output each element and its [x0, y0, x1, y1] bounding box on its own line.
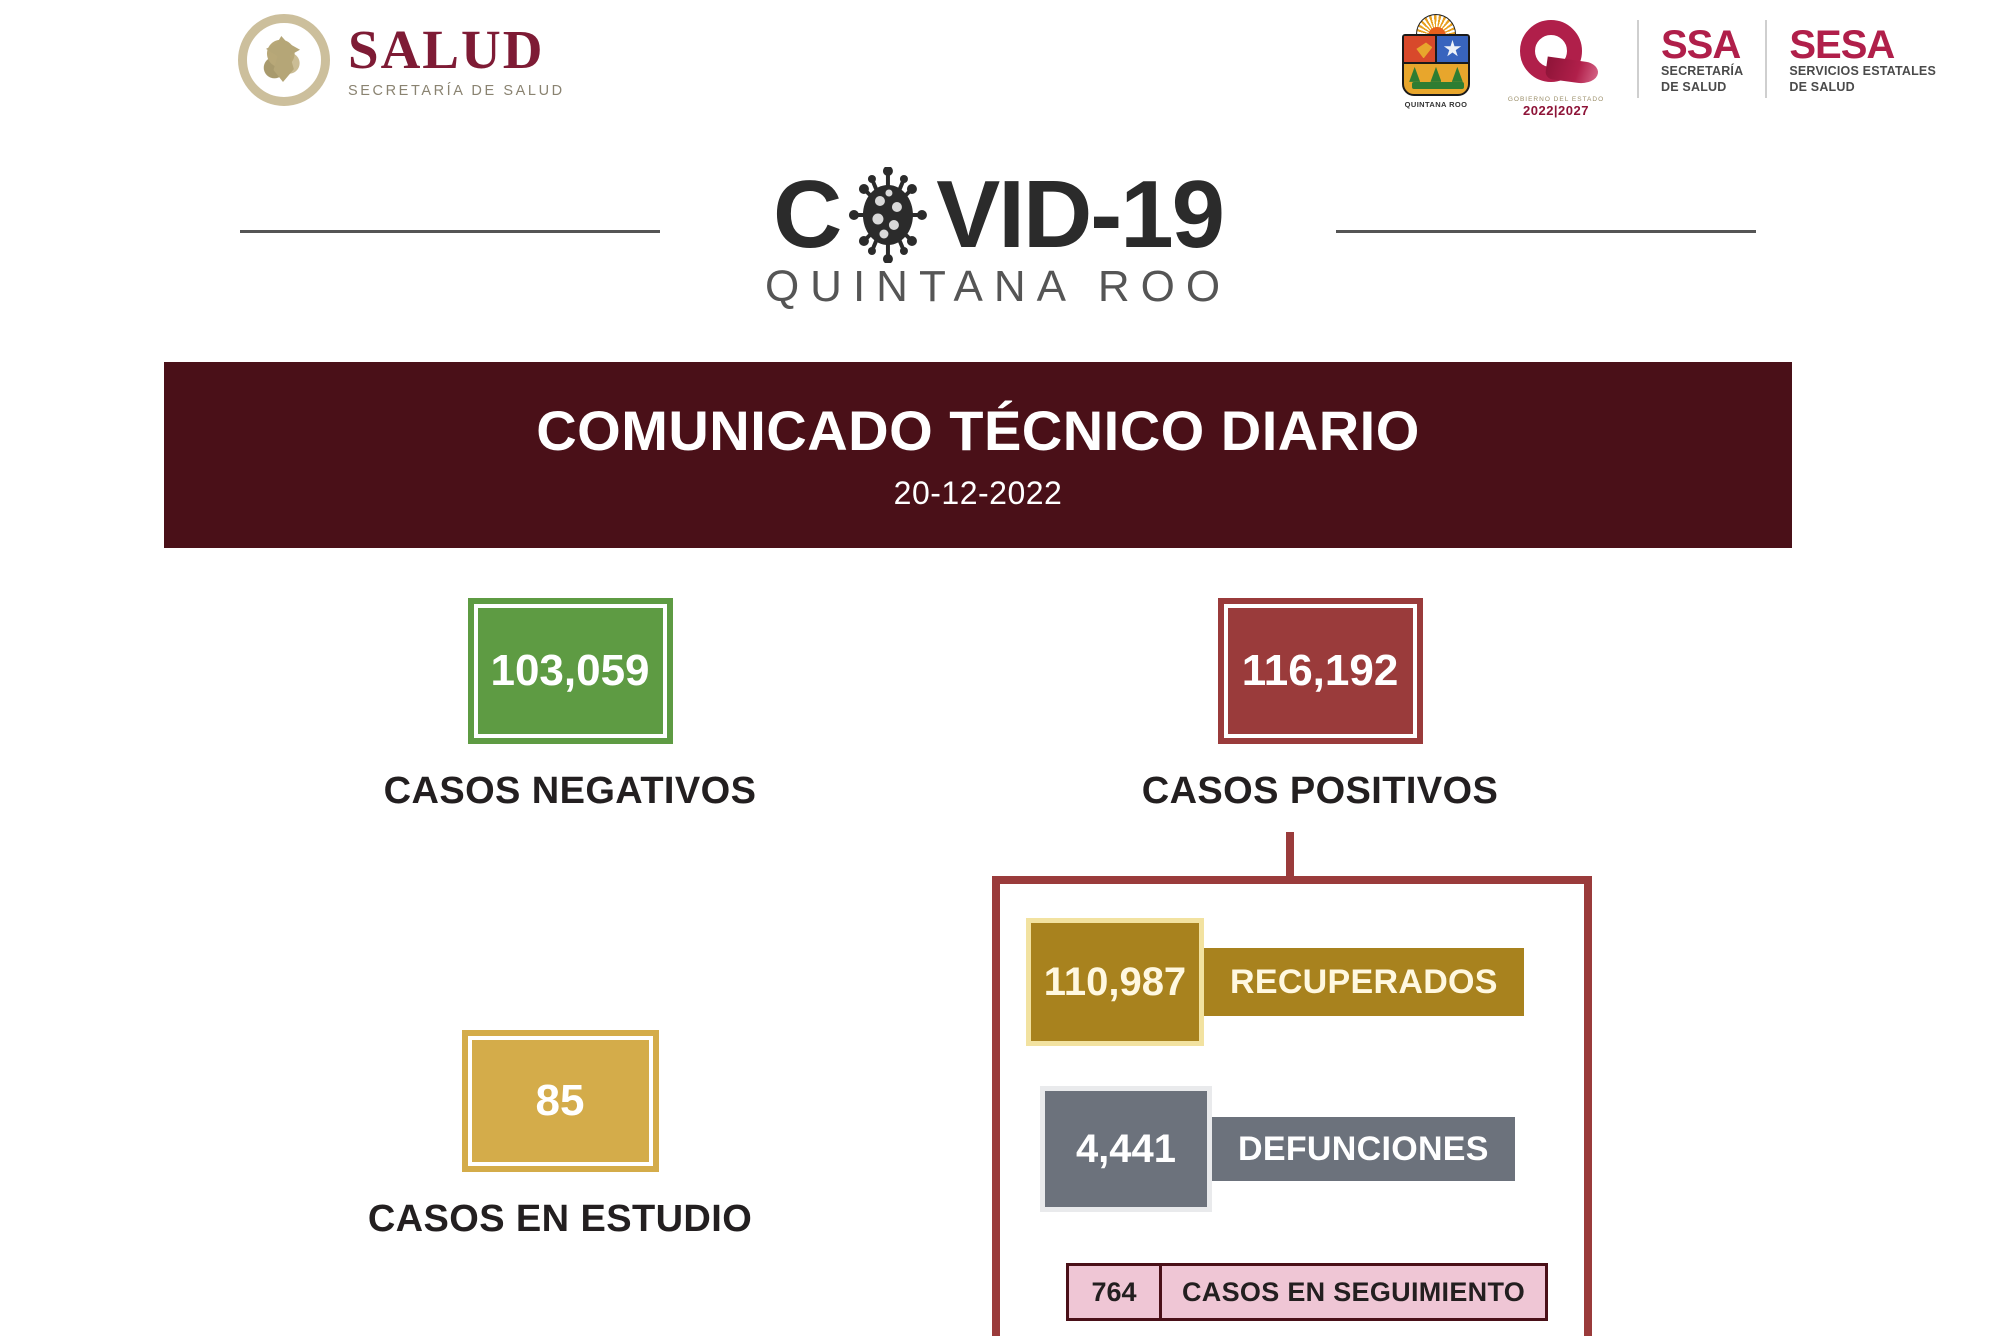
- coronavirus-icon: [842, 167, 934, 263]
- recuperados-value: 110,987: [1026, 918, 1204, 1046]
- seguimiento-label: CASOS EN SEGUIMIENTO: [1162, 1263, 1548, 1321]
- ssa-acronym: SSA: [1661, 26, 1743, 64]
- recuperados-label: RECUPERADOS: [1200, 948, 1524, 1016]
- seguimiento-value: 764: [1066, 1263, 1162, 1321]
- gobierno-years: 2022|2027: [1523, 103, 1589, 118]
- gobierno-small-text: GOBIERNO DEL ESTADO: [1508, 96, 1604, 103]
- ssa-logo: SSA SECRETARÍA DE SALUD: [1661, 14, 1743, 95]
- stat-casos-positivos: 116,192 CASOS POSITIVOS: [1110, 598, 1530, 813]
- logo-divider-1: [1637, 20, 1639, 98]
- defunciones-label: DEFUNCIONES: [1208, 1117, 1515, 1181]
- salud-wordmark: SALUD: [348, 22, 565, 77]
- quintana-roo-coat-of-arms-icon: QUINTANA ROO: [1397, 14, 1475, 109]
- breakdown-row-seguimiento: 764 CASOS EN SEGUIMIENTO: [1066, 1263, 1548, 1321]
- ssa-line1: SECRETARÍA: [1661, 64, 1743, 80]
- defunciones-value: 4,441: [1040, 1086, 1212, 1212]
- positivos-label: CASOS POSITIVOS: [1110, 770, 1530, 813]
- negativos-box-outer: 103,059: [468, 598, 673, 744]
- title-rule-right: [1336, 230, 1756, 233]
- sesa-line1: SERVICIOS ESTATALES: [1789, 64, 1936, 80]
- positivos-connector-line: [1286, 832, 1294, 880]
- stat-casos-en-estudio: 85 CASOS EN ESTUDIO: [350, 1030, 770, 1241]
- q-logo-icon: [1514, 20, 1598, 92]
- title-rule-left: [240, 230, 660, 233]
- covid-title-right: VID-19: [936, 160, 1223, 270]
- covid-subtitle: QUINTANA ROO: [765, 262, 1231, 312]
- negativos-label: CASOS NEGATIVOS: [360, 770, 780, 813]
- estudio-value: 85: [468, 1036, 653, 1166]
- logo-divider-2: [1765, 20, 1767, 98]
- right-logo-group: QUINTANA ROO GOBIERNO DEL ESTADO 2022|20…: [1397, 14, 1936, 118]
- breakdown-row-recuperados: 110,987 RECUPERADOS: [1026, 918, 1524, 1046]
- salud-subtitle: SECRETARÍA DE SALUD: [348, 83, 565, 99]
- salud-logo: SALUD SECRETARÍA DE SALUD: [238, 14, 565, 106]
- covid-title-left: C: [773, 160, 840, 270]
- estudio-label: CASOS EN ESTUDIO: [350, 1198, 770, 1241]
- estudio-box-outer: 85: [462, 1030, 659, 1172]
- ssa-line2: DE SALUD: [1661, 80, 1743, 96]
- gobierno-q-logo: GOBIERNO DEL ESTADO 2022|2027: [1497, 14, 1615, 118]
- banner-date: 20-12-2022: [894, 475, 1063, 512]
- quintana-roo-caption: QUINTANA ROO: [1405, 100, 1468, 109]
- negativos-value: 103,059: [474, 604, 667, 738]
- sesa-acronym: SESA: [1789, 26, 1936, 64]
- sesa-line2: DE SALUD: [1789, 80, 1936, 96]
- covid-title-block: C: [0, 150, 1996, 330]
- stat-casos-negativos: 103,059 CASOS NEGATIVOS: [360, 598, 780, 813]
- communique-banner: COMUNICADO TÉCNICO DIARIO 20-12-2022: [164, 362, 1792, 548]
- breakdown-row-defunciones: 4,441 DEFUNCIONES: [1040, 1086, 1515, 1212]
- positivos-box-outer: 116,192: [1218, 598, 1423, 744]
- infographic-page: SALUD SECRETARÍA DE SALUD: [0, 0, 1996, 1336]
- banner-title: COMUNICADO TÉCNICO DIARIO: [536, 398, 1420, 463]
- page-title: C: [773, 160, 1223, 270]
- mexico-eagle-seal-icon: [238, 14, 330, 106]
- positivos-value: 116,192: [1224, 604, 1417, 738]
- sesa-logo: SESA SERVICIOS ESTATALES DE SALUD: [1789, 14, 1936, 95]
- header: SALUD SECRETARÍA DE SALUD: [0, 0, 1996, 150]
